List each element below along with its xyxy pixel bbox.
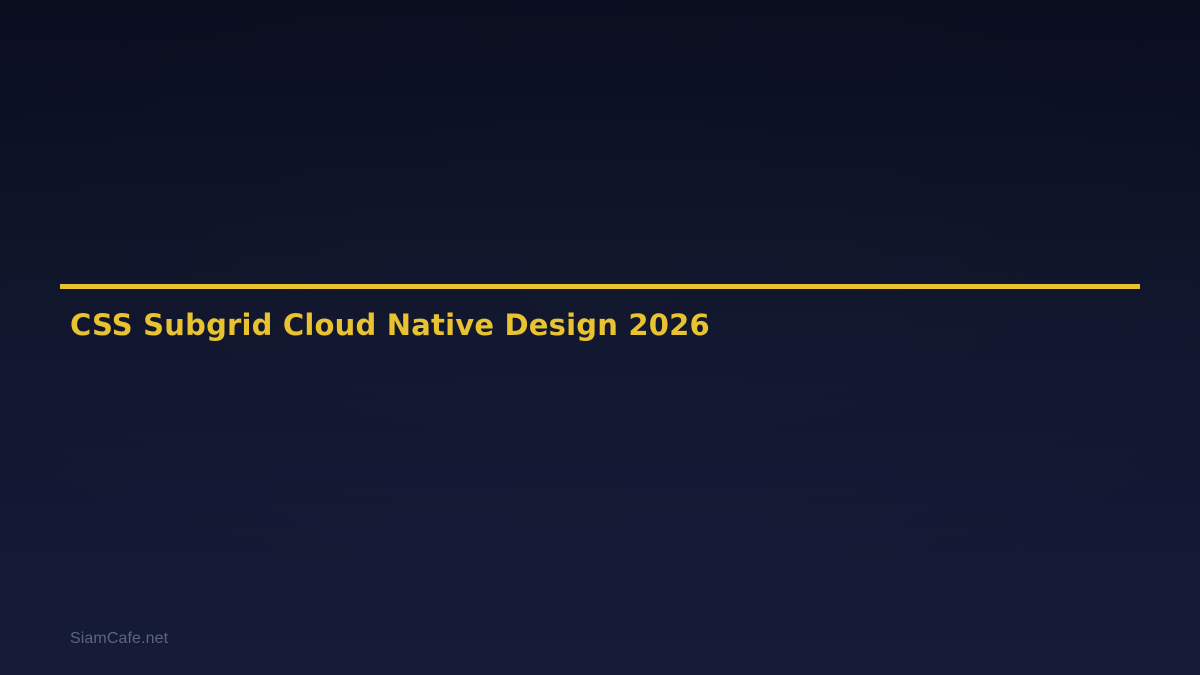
- title-block: CSS Subgrid Cloud Native Design 2026: [60, 284, 1140, 289]
- accent-rule-divider: [60, 284, 1140, 289]
- footer-brand-label: SiamCafe.net: [70, 629, 168, 648]
- slide-canvas: CSS Subgrid Cloud Native Design 2026 Sia…: [0, 0, 1200, 675]
- page-title: CSS Subgrid Cloud Native Design 2026: [70, 308, 710, 342]
